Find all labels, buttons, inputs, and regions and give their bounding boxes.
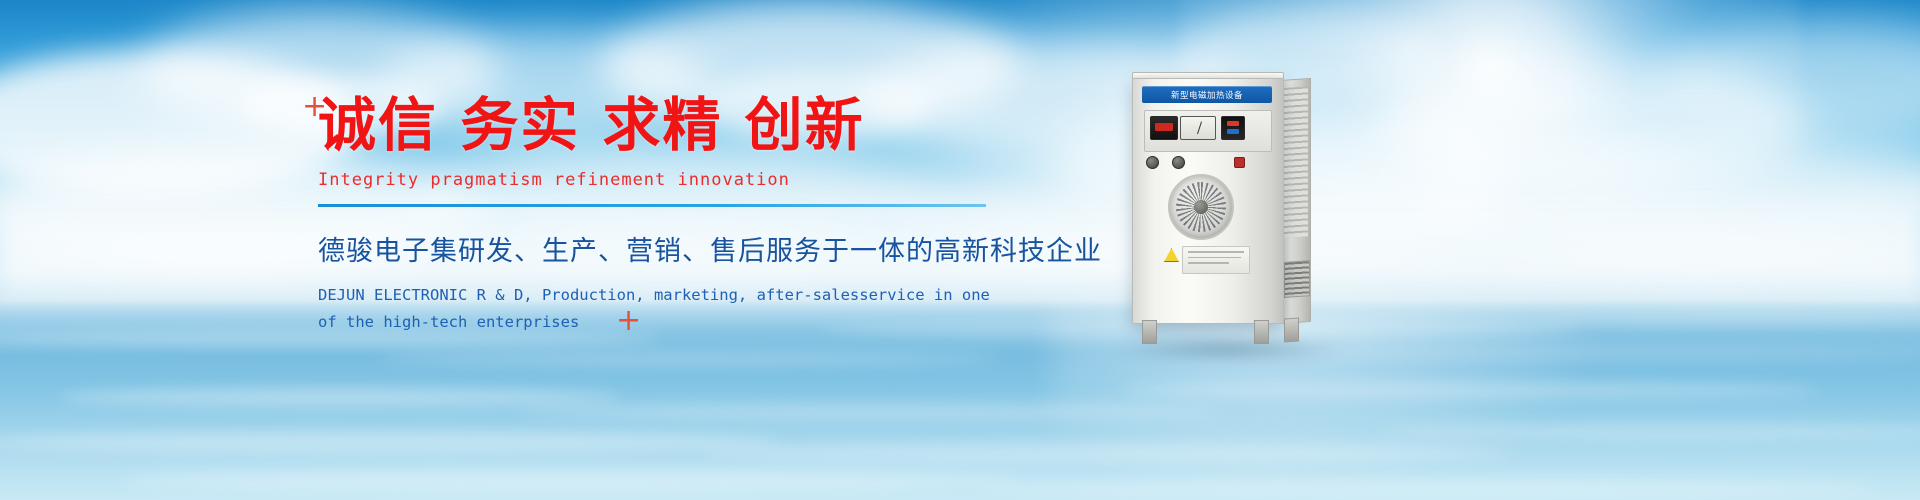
vent-slots	[1284, 86, 1308, 238]
subheadline-chinese: 德骏电子集研发、生产、营销、售后服务于一体的高新科技企业	[318, 229, 1038, 268]
product-image-heating-equipment: 新型电磁加热设备	[1124, 62, 1324, 342]
machine-leg	[1254, 320, 1269, 344]
wave-line	[380, 352, 1000, 365]
control-panel	[1144, 110, 1272, 152]
description-block: DEJUN ELECTRONIC R & D, Production, mark…	[318, 282, 1038, 336]
hero-banner: + + 诚信 务实 求精 创新 Integrity pragmatism ref…	[0, 0, 1920, 500]
divider	[318, 204, 986, 207]
analog-gauge	[1180, 116, 1216, 140]
banner-text-block: 诚信 务实 求精 创新 Integrity pragmatism refinem…	[318, 96, 1038, 336]
wave-line	[520, 404, 1220, 419]
machine-leg	[1142, 320, 1157, 344]
product-label-text: 新型电磁加热设备	[1171, 89, 1243, 101]
product-label-badge: 新型电磁加热设备	[1142, 86, 1272, 103]
machine-leg	[1284, 317, 1299, 342]
wave-line	[0, 432, 780, 452]
fan-grille-icon	[1168, 174, 1234, 240]
digital-display-right	[1221, 116, 1245, 140]
wave-line	[1300, 348, 1920, 360]
digital-display-left	[1150, 116, 1178, 140]
lower-vent-grille	[1284, 260, 1310, 298]
control-knob	[1172, 156, 1185, 169]
power-switch	[1234, 157, 1245, 168]
description-line-1: DEJUN ELECTRONIC R & D, Production, mark…	[318, 282, 1038, 309]
control-knob	[1146, 156, 1159, 169]
spec-plate	[1182, 246, 1250, 274]
wave-line	[980, 478, 1880, 498]
wave-line	[1120, 382, 1820, 398]
wave-line	[700, 444, 1520, 462]
description-line-2: of the high-tech enterprises	[318, 309, 1038, 336]
headline-english: Integrity pragmatism refinement innovati…	[318, 170, 1038, 190]
wave-line	[120, 470, 1020, 492]
headline-chinese: 诚信 务实 求精 创新	[318, 96, 1038, 154]
wave-line	[60, 388, 620, 406]
